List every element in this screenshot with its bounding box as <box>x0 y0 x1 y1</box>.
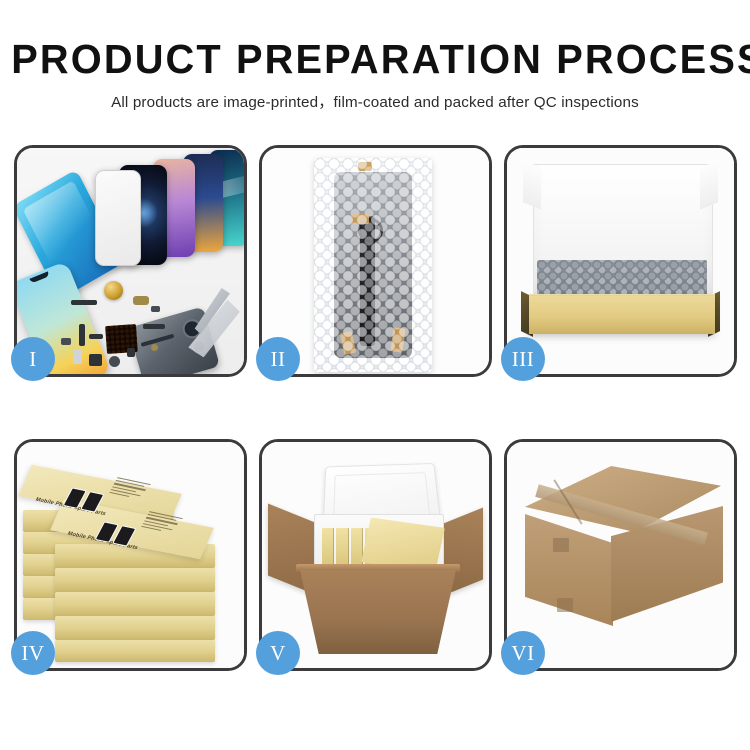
process-step-panel-3: III <box>504 145 737 377</box>
scene-bubble-wrap <box>262 148 489 374</box>
process-step-panel-2: II <box>259 145 492 377</box>
component-bracket-gold <box>133 296 149 305</box>
scene-components <box>17 148 244 374</box>
stacked-box-front-4 <box>55 616 215 640</box>
step-badge-6: VI <box>501 631 545 675</box>
component-shield <box>61 338 71 345</box>
step-badge-2: II <box>256 337 300 381</box>
tape-top <box>358 162 372 171</box>
page-title: PRODUCT PREPARATION PROCESS <box>11 36 739 82</box>
phone-glass-panel <box>95 170 141 266</box>
carton-tab-lower <box>557 598 573 612</box>
step-badge-3: III <box>501 337 545 381</box>
scene-carton-packing <box>262 442 489 668</box>
component-taptic <box>89 354 102 366</box>
component-sim-tray <box>73 350 82 364</box>
component-flex-cable-2 <box>89 334 103 339</box>
panel-5-image <box>262 442 489 668</box>
product-preparation-infographic: PRODUCT PREPARATION PROCESS All products… <box>0 0 750 750</box>
process-step-panel-4: Mobile Phone Spare Parts Mobile Phone Sp… <box>14 439 247 671</box>
scene-box-stack: Mobile Phone Spare Parts Mobile Phone Sp… <box>17 442 244 668</box>
step-badge-5: V <box>256 631 300 675</box>
component-screw-plate <box>127 348 135 357</box>
component-flex-cable-1 <box>79 324 85 346</box>
box-lid-flap-left <box>523 160 541 209</box>
step-badge-1: I <box>11 337 55 381</box>
step-badge-4: IV <box>11 631 55 675</box>
panel-1-image <box>17 148 244 374</box>
panel-6-image <box>507 442 734 668</box>
panel-4-image: Mobile Phone Spare Parts Mobile Phone Sp… <box>17 442 244 668</box>
component-connector-1 <box>71 300 97 305</box>
stacked-box-front-5 <box>55 640 215 662</box>
tape-middle <box>352 214 369 224</box>
scene-open-box <box>507 148 734 374</box>
panel-3-image <box>507 148 734 374</box>
stacked-box-front-2 <box>55 568 215 592</box>
process-step-panel-5: V <box>259 439 492 671</box>
speaker-module <box>104 281 123 300</box>
component-vibrator <box>109 356 120 367</box>
process-step-panel-6: VI <box>504 439 737 671</box>
component-screw <box>151 344 158 351</box>
header: PRODUCT PREPARATION PROCESS All products… <box>0 36 750 112</box>
carton-body <box>300 570 456 654</box>
stacked-box-front-3 <box>55 592 215 616</box>
scene-sealed-carton <box>507 442 734 668</box>
page-subtitle: All products are image-printed，film-coat… <box>0 90 750 112</box>
process-step-panel-1: I <box>14 145 247 377</box>
bubble-wrap-bag <box>314 158 432 372</box>
box-yellow-front <box>529 296 715 334</box>
box-lid-flap-right <box>700 160 718 209</box>
component-antenna <box>143 324 165 329</box>
carton-tab-upper <box>553 538 569 552</box>
panel-2-image <box>262 148 489 374</box>
component-chip-small <box>151 306 160 312</box>
process-steps-grid: I II <box>14 145 736 671</box>
